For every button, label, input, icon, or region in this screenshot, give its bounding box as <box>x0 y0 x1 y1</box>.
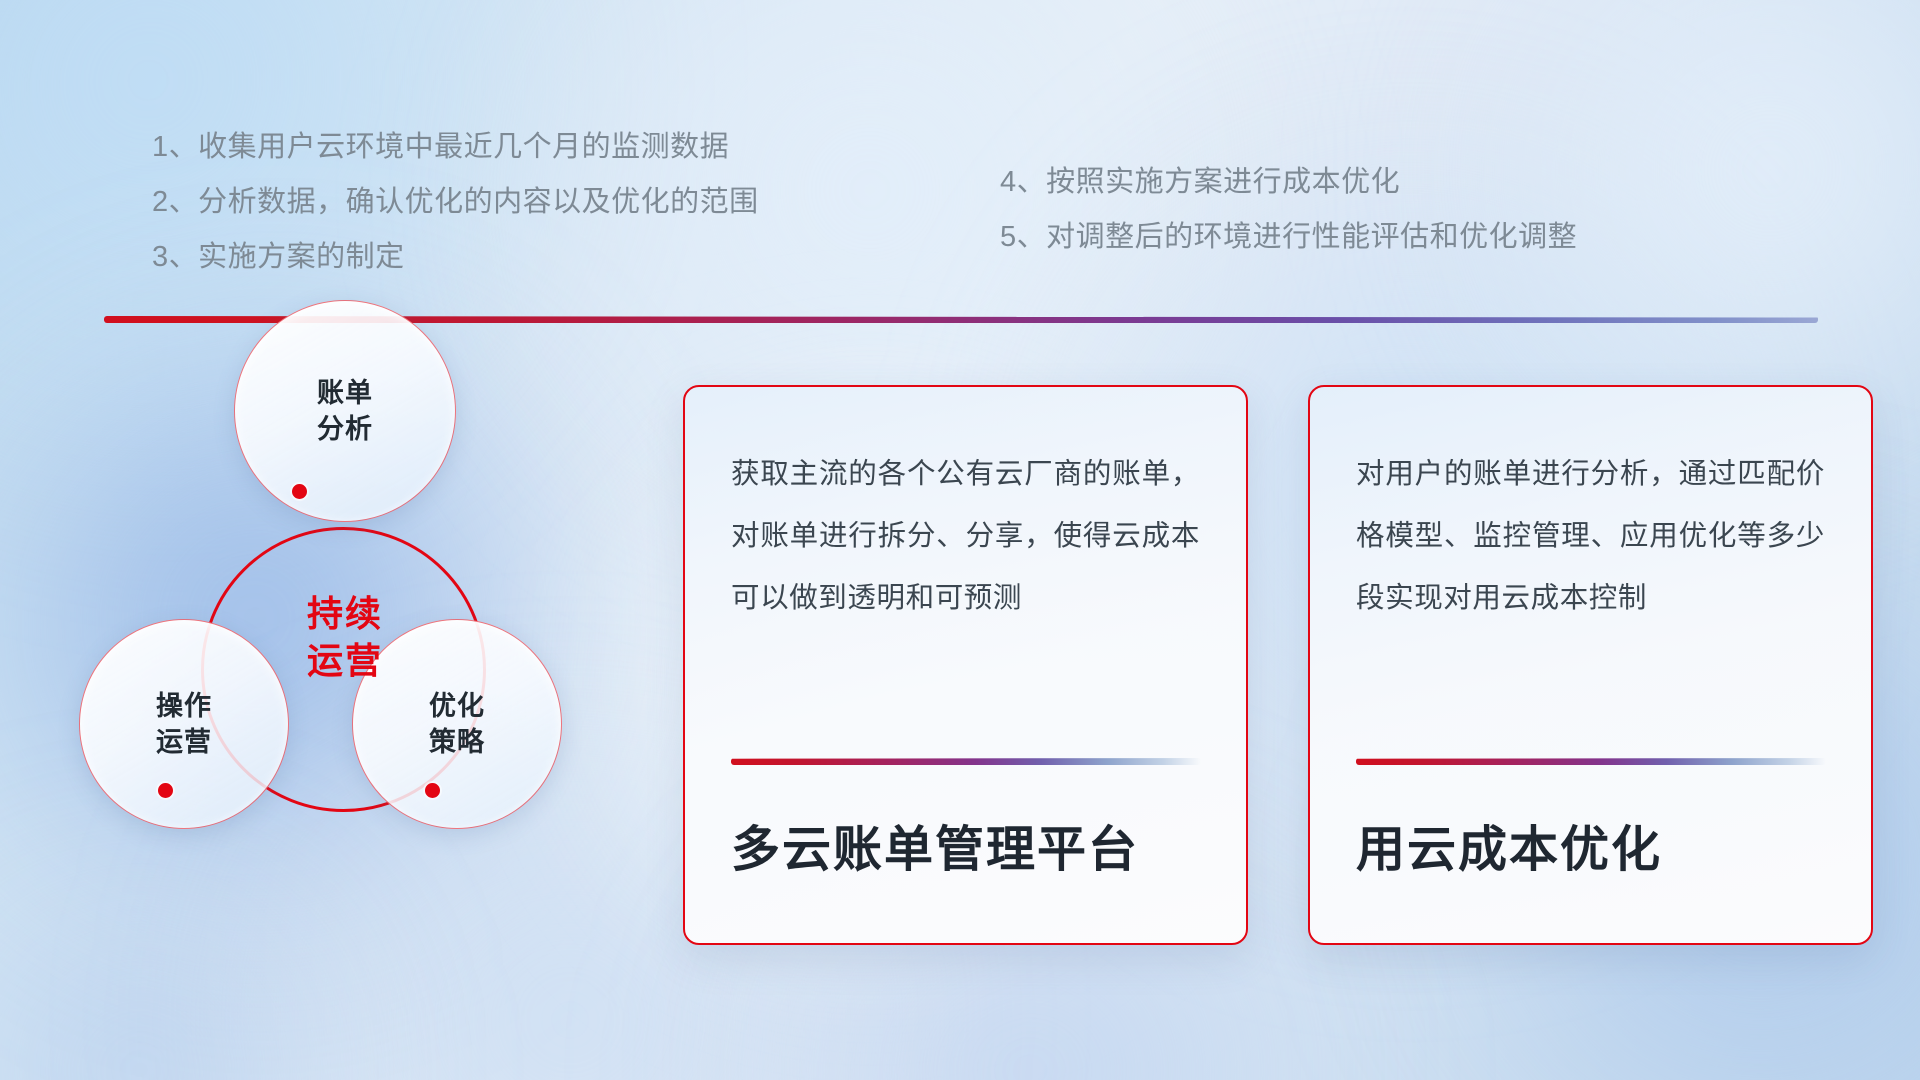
feature-cards: 获取主流的各个公有云厂商的账单，对账单进行拆分、分享，使得云成本可以做到透明和可… <box>683 385 1873 945</box>
card-body-text: 获取主流的各个公有云厂商的账单，对账单进行拆分、分享，使得云成本可以做到透明和可… <box>731 443 1200 629</box>
bubble-billing-analysis[interactable]: 账单分析 <box>234 300 456 522</box>
step-item-3: 3、实施方案的制定 <box>152 230 759 285</box>
bubble-label: 优化策略 <box>429 688 485 760</box>
card-multi-cloud-billing-platform[interactable]: 获取主流的各个公有云厂商的账单，对账单进行拆分、分享，使得云成本可以做到透明和可… <box>683 385 1248 945</box>
card-cloud-cost-optimization[interactable]: 对用户的账单进行分析，通过匹配价格模型、监控管理、应用优化等多少段实现对用云成本… <box>1308 385 1873 945</box>
node-dot-icon <box>425 783 440 798</box>
card-divider <box>1356 758 1826 765</box>
bubble-label: 账单分析 <box>317 375 373 447</box>
steps-right-column: 4、按照实施方案进行成本优化 5、对调整后的环境进行性能评估和优化调整 <box>1000 155 1577 265</box>
card-divider <box>731 758 1201 765</box>
node-dot-icon <box>292 484 307 499</box>
continuous-operations-diagram: 账单分析 操作运营 优化策略 持续运营 <box>95 355 625 915</box>
diagram-center-label: 持续运营 <box>255 590 435 684</box>
step-item-1: 1、收集用户云环境中最近几个月的监测数据 <box>152 120 759 175</box>
card-title: 多云账单管理平台 <box>731 819 1139 881</box>
step-item-5: 5、对调整后的环境进行性能评估和优化调整 <box>1000 210 1577 265</box>
card-body-text: 对用户的账单进行分析，通过匹配价格模型、监控管理、应用优化等多少段实现对用云成本… <box>1356 443 1825 629</box>
node-dot-icon <box>158 783 173 798</box>
bubble-label: 操作运营 <box>156 688 212 760</box>
card-title: 用云成本优化 <box>1356 819 1662 881</box>
step-item-4: 4、按照实施方案进行成本优化 <box>1000 155 1577 210</box>
step-item-2: 2、分析数据，确认优化的内容以及优化的范围 <box>152 175 759 230</box>
steps-left-column: 1、收集用户云环境中最近几个月的监测数据 2、分析数据，确认优化的内容以及优化的… <box>152 120 759 285</box>
